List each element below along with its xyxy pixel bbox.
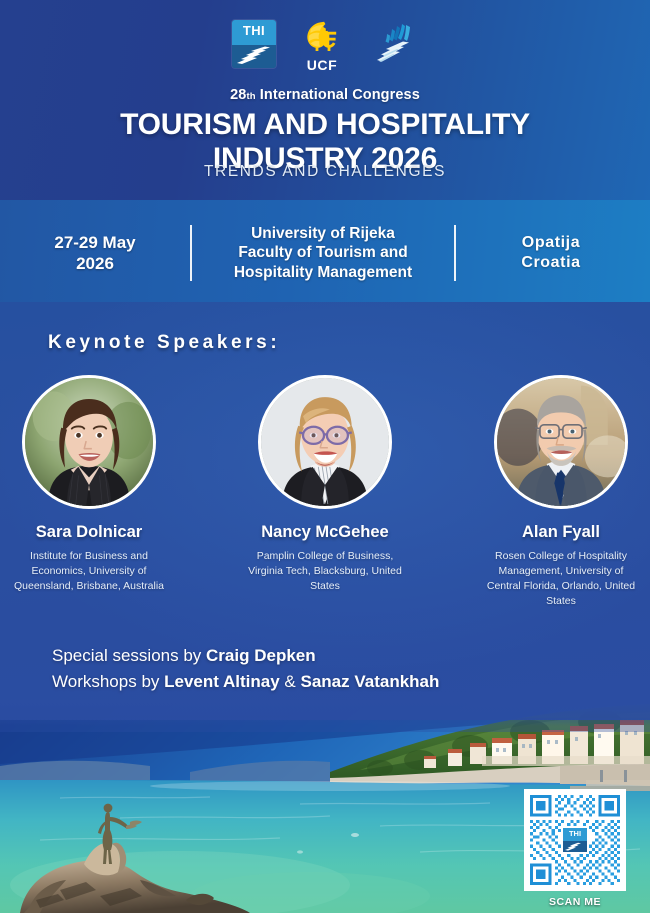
ucf-logo-text: UCF [307,57,338,73]
thi-logo: THI [232,20,276,68]
scan-me-label: SCAN ME [524,896,626,908]
speaker-photo-alan-fyall [494,375,628,509]
speaker-name: Nancy McGehee [261,523,388,542]
qr-center-thi-logo: THI [561,826,589,854]
speaker-card: Alan Fyall Rosen College of Hospitality … [476,375,646,609]
workshops-line: Workshops by Levent Altinay & Sanaz Vata… [52,669,612,695]
info-venue-line-3: Hospitality Management [192,263,454,282]
qr-logo-swoosh-icon [564,841,586,852]
speaker-card: Sara Dolnicar Institute for Business and… [4,375,174,609]
info-divider-left [190,225,192,281]
special-sessions-line: Special sessions by Craig Depken [52,643,612,669]
thi-logo-text: THI [232,23,276,38]
conference-poster: THI UCF [0,0,650,913]
title-line-1: TOURISM AND HOSPITALITY [0,108,650,142]
info-dates-line-2: 2026 [0,253,190,274]
speaker-photo-nancy-mcgehee [258,375,392,509]
thi-logo-swoosh-icon [235,45,273,67]
congress-ordinal-suffix: th [246,91,255,102]
faculty-fan-icon [368,20,418,70]
workshops-speaker-2: Sanaz Vatankhah [301,672,440,691]
speaker-name: Sara Dolnicar [36,523,142,542]
qr-logo-text: THI [563,829,587,838]
ucf-pegasus-icon [302,20,342,56]
sessions-info: Special sessions by Craig Depken Worksho… [52,643,612,695]
photo-top-fade [0,700,650,726]
qr-section: THI SCAN ME [524,789,626,908]
speaker-photo-sara-dolnicar [22,375,156,509]
info-dates: 27-29 May 2026 [0,232,190,274]
congress-ordinal-line: 28th International Congress [0,87,650,103]
info-venue-line-1: University of Rijeka [192,224,454,243]
ucf-logo: UCF [297,20,347,74]
special-sessions-prefix: Special sessions by [52,646,206,665]
special-sessions-speaker: Craig Depken [206,646,316,665]
speaker-affiliation: Pamplin College of Business, Virginia Te… [245,549,405,594]
workshops-speaker-1: Levent Altinay [164,672,280,691]
info-divider-right [454,225,456,281]
info-venue: University of Rijeka Faculty of Tourism … [192,224,454,282]
poster-subtitle: TRENDS AND CHALLENGES [0,163,650,181]
logo-row: THI UCF [0,20,650,80]
info-venue-line-2: Faculty of Tourism and [192,243,454,262]
speaker-name: Alan Fyall [522,523,600,542]
congress-label: International Congress [260,87,420,103]
info-place: Opatija Croatia [456,233,646,273]
speaker-card: Nancy McGehee Pamplin College of Busines… [240,375,410,609]
info-place-line-2: Croatia [456,253,646,273]
info-bar: 27-29 May 2026 University of Rijeka Facu… [0,218,650,288]
qr-code[interactable]: THI [524,789,626,891]
workshops-prefix: Workshops by [52,672,164,691]
congress-ordinal-number: 28 [230,87,246,103]
keynote-speakers-heading: Keynote Speakers: [48,332,280,354]
workshops-ampersand: & [280,672,301,691]
info-place-line-1: Opatija [456,233,646,253]
speakers-list: Sara Dolnicar Institute for Business and… [0,375,650,609]
speaker-affiliation: Institute for Business and Economics, Un… [9,549,169,594]
qr-logo-top: THI [563,828,587,841]
info-dates-line-1: 27-29 May [0,232,190,253]
speaker-affiliation: Rosen College of Hospitality Management,… [481,549,641,609]
faculty-fan-logo [368,20,418,70]
